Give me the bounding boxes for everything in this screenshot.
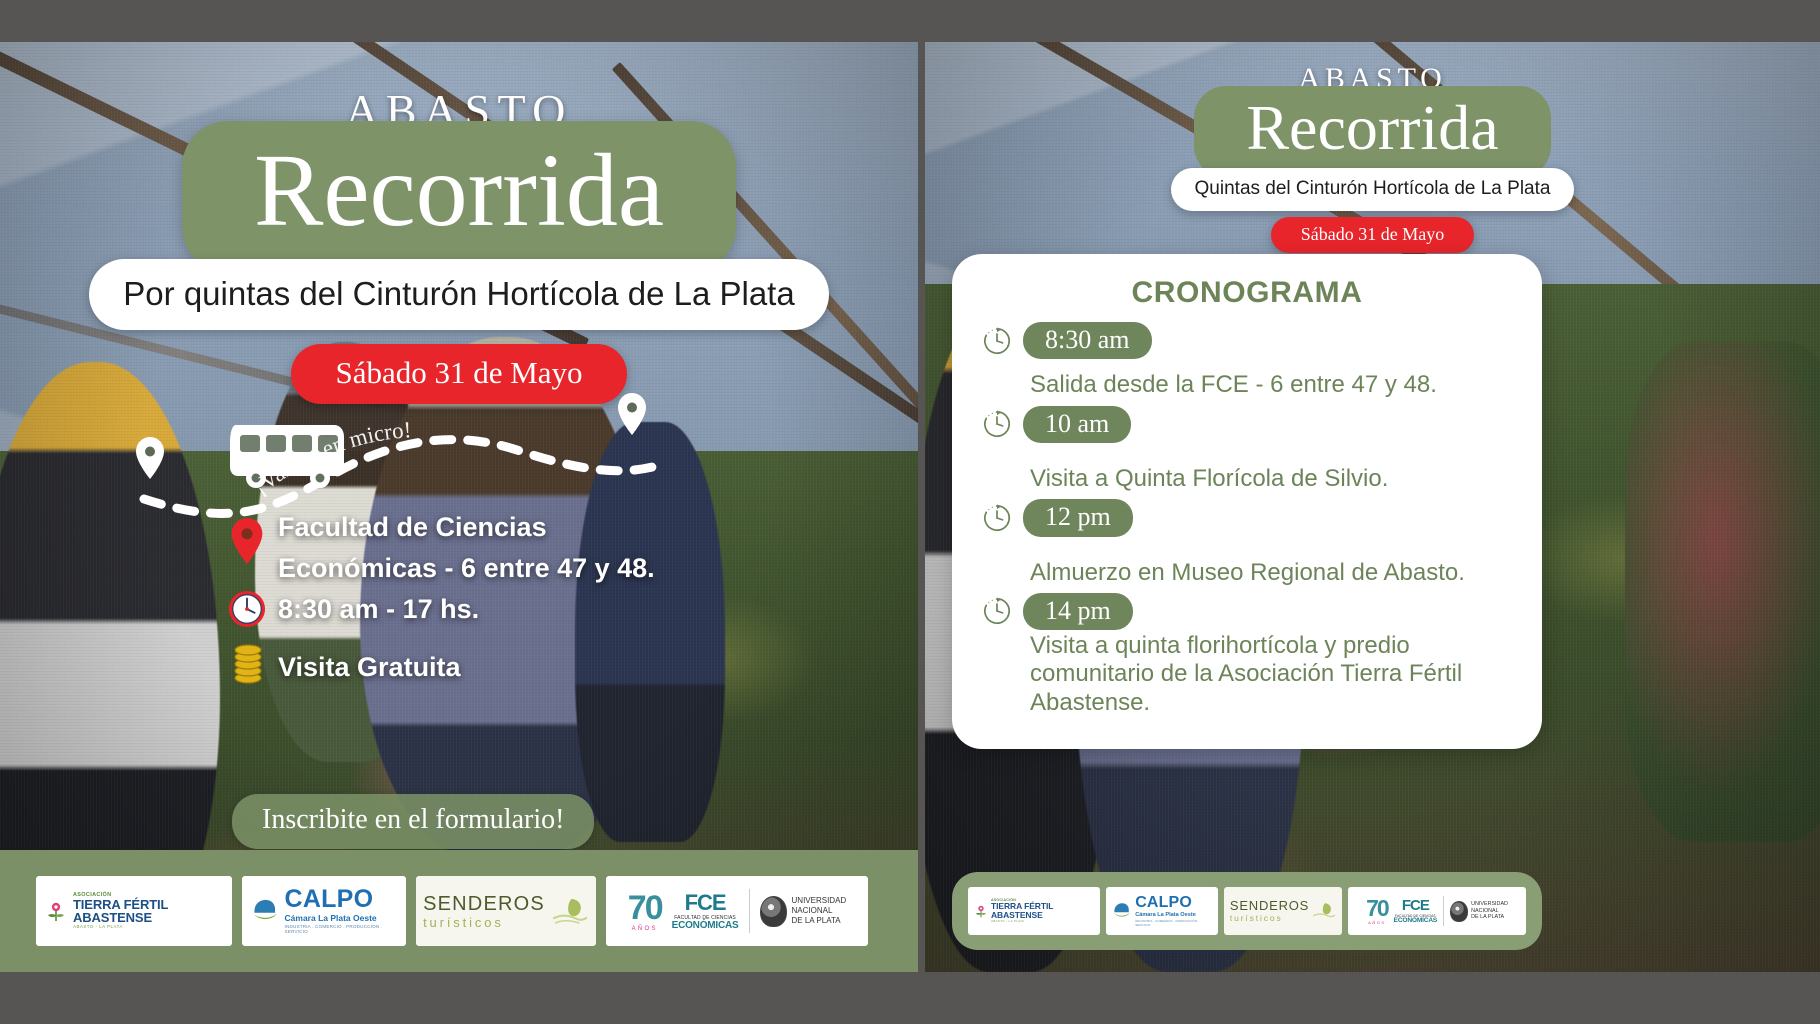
logo-tierra-fertil-abastense: ASOCIACIÓN TIERRA FÉRTIL ABASTENSE ABAST… <box>36 876 232 946</box>
schedule-time-badge: 12 pm <box>1023 499 1133 536</box>
logo-70-label: AÑOS <box>1368 921 1385 925</box>
logo-calpo-line3: INDUSTRIA . COMERCIO . PRODUCCION . SERV… <box>285 924 397 934</box>
anniversary-70-icon: 70 AÑOS <box>628 891 662 932</box>
anniversary-70-icon: 70 AÑOS <box>1366 897 1388 925</box>
date-pill: Sábado 31 de Mayo <box>1271 217 1474 253</box>
schedule-description: Visita a quinta florihortícola y predio … <box>1030 632 1512 717</box>
map-pin-icon-end <box>618 393 646 435</box>
subtitle-pill: Quintas del Cinturón Hortícola de La Pla… <box>1171 168 1575 211</box>
event-info-text: Facultad de Ciencias Económicas - 6 entr… <box>278 512 782 683</box>
logo-tierra-fertil-abastense: ASOCIACIÓN TIERRA FÉRTIL ABASTENSE ABAST… <box>968 887 1100 935</box>
schedule-item: 10 am Visita a Quinta Florícola de Silvi… <box>982 406 1512 494</box>
subtitle-pill: Por quintas del Cinturón Hortícola de La… <box>89 259 828 330</box>
schedule-item: 12 pm Almuerzo en Museo Regional de Abas… <box>982 499 1512 587</box>
flyer-right-panel: ABASTO Recorrida Quintas del Cinturón Ho… <box>925 42 1820 972</box>
logo-fce-initials: FCE <box>672 892 739 914</box>
calpo-mark-icon <box>1112 901 1131 921</box>
map-pin-icon-start <box>136 437 164 479</box>
unlp-shield-icon <box>1450 901 1468 922</box>
logo-calpo-line1: CALPO <box>1135 895 1212 910</box>
route-graphic: ¡Vamos en micro! <box>120 407 700 527</box>
logo-calpo-line3: INDUSTRIA . COMERCIO . PRODUCCION . SERV… <box>1135 919 1212 927</box>
route-dashed-path <box>144 440 660 514</box>
info-line-4: Visita Gratuita <box>278 652 782 684</box>
info-line-2: Económicas - 6 entre 47 y 48. <box>278 553 782 585</box>
logo-unlp-line1: UNIVERSIDAD <box>1471 901 1508 908</box>
map-pin-icon <box>230 518 264 564</box>
schedule-description: Salida desde la FCE - 6 entre 47 y 48. <box>1030 371 1512 399</box>
leaf-hand-icon <box>1312 901 1336 921</box>
logo-tfa-line3: ABASTO - LA PLATA <box>73 925 223 930</box>
logo-senderos-line1: SENDEROS <box>1230 899 1309 912</box>
logo-70-number: 70 <box>1366 895 1388 921</box>
logo-fce-unlp: 70 AÑOS FCE FACULTAD DE CIENCIAS ECONÓMI… <box>1348 887 1526 935</box>
info-line-1: Facultad de Ciencias <box>278 512 782 544</box>
title-recorrida: Recorrida <box>182 121 736 273</box>
logo-70-number: 70 <box>628 889 662 927</box>
logo-calpo: CALPO Cámara La Plata Oeste INDUSTRIA . … <box>242 876 406 946</box>
schedule-description: Almuerzo en Museo Regional de Abasto. <box>1030 559 1512 587</box>
calpo-mark-icon <box>251 896 279 926</box>
schedule-item: 8:30 am Salida desde la FCE - 6 entre 47… <box>982 322 1512 400</box>
coins-icon <box>226 640 270 686</box>
schedule-card: CRONOGRAMA 8:30 am Salida desde la FCE -… <box>952 254 1542 749</box>
schedule-time-badge: 10 am <box>1023 406 1131 443</box>
logo-calpo-line2: Cámara La Plata Oeste <box>1135 912 1212 918</box>
flower-icon <box>45 900 67 922</box>
right-header-block: ABASTO Recorrida Quintas del Cinturón Ho… <box>925 42 1820 253</box>
logo-tfa-line3: ABASTO - LA PLATA <box>991 920 1094 923</box>
logo-senderos-line1: SENDEROS <box>423 894 545 914</box>
event-info-block: Facultad de Ciencias Económicas - 6 entr… <box>222 512 782 692</box>
logo-senderos-turisticos: SENDEROS turísticos <box>1224 887 1342 935</box>
logo-senderos-turisticos: SENDEROS turísticos <box>416 876 596 946</box>
logo-calpo: CALPO Cámara La Plata Oeste INDUSTRIA . … <box>1106 887 1218 935</box>
logo-fce-unlp: 70 AÑOS FCE FACULTAD DE CIENCIAS ECONÓMI… <box>606 876 868 946</box>
logo-fce-initials: FCE <box>1394 898 1437 913</box>
logo-fce-line2: ECONÓMICAS <box>672 921 739 931</box>
schedule-description: Visita a Quinta Florícola de Silvio. <box>1030 465 1512 493</box>
logo-unlp-line3: DE LA PLATA <box>1471 914 1508 921</box>
title-recorrida: Recorrida <box>1194 86 1550 178</box>
register-cta-banner[interactable]: Inscribite en el formulario! <box>232 794 594 849</box>
sponsor-logo-strip-right: ASOCIACIÓN TIERRA FÉRTIL ABASTENSE ABAST… <box>952 872 1542 950</box>
clock-history-icon <box>982 596 1012 626</box>
logo-unlp-line1: UNIVERSIDAD <box>792 896 847 906</box>
left-header-block: ABASTO Recorrida Por quintas del Cinturó… <box>0 42 918 404</box>
schedule-title: CRONOGRAMA <box>982 276 1512 310</box>
logo-70-label: AÑOS <box>632 926 658 932</box>
clock-icon <box>228 590 266 628</box>
schedule-time-badge: 14 pm <box>1023 593 1133 630</box>
screenshot-stage: ABASTO Recorrida Por quintas del Cinturó… <box>0 0 1820 1024</box>
leaf-hand-icon <box>551 896 589 926</box>
date-pill: Sábado 31 de Mayo <box>291 344 626 404</box>
clock-history-icon <box>982 503 1012 533</box>
logo-tfa-line2: TIERRA FÉRTIL ABASTENSE <box>991 902 1094 919</box>
logo-senderos-line2: turísticos <box>423 916 545 929</box>
unlp-shield-icon <box>760 896 787 927</box>
info-line-3: 8:30 am - 17 hs. <box>278 594 782 626</box>
flower-icon <box>974 904 988 918</box>
schedule-item: 14 pm Visita a quinta florihortícola y p… <box>982 593 1512 717</box>
flyer-left-panel: ABASTO Recorrida Por quintas del Cinturó… <box>0 42 918 972</box>
sponsor-logo-strip-left: ASOCIACIÓN TIERRA FÉRTIL ABASTENSE ABAST… <box>0 850 918 972</box>
logo-calpo-line2: Cámara La Plata Oeste <box>285 913 397 923</box>
logo-unlp-line3: DE LA PLATA <box>792 916 847 926</box>
clock-history-icon <box>982 409 1012 439</box>
logo-senderos-line2: turísticos <box>1230 914 1309 923</box>
logo-unlp-line2: NACIONAL <box>792 906 847 916</box>
logo-unlp-line2: NACIONAL <box>1471 908 1508 915</box>
clock-history-icon <box>982 326 1012 356</box>
logo-calpo-line1: CALPO <box>285 888 397 912</box>
logo-tfa-line2: TIERRA FÉRTIL ABASTENSE <box>73 898 223 924</box>
logo-fce-line2: ECONÓMICAS <box>1394 918 1437 925</box>
schedule-time-badge: 8:30 am <box>1023 322 1152 359</box>
